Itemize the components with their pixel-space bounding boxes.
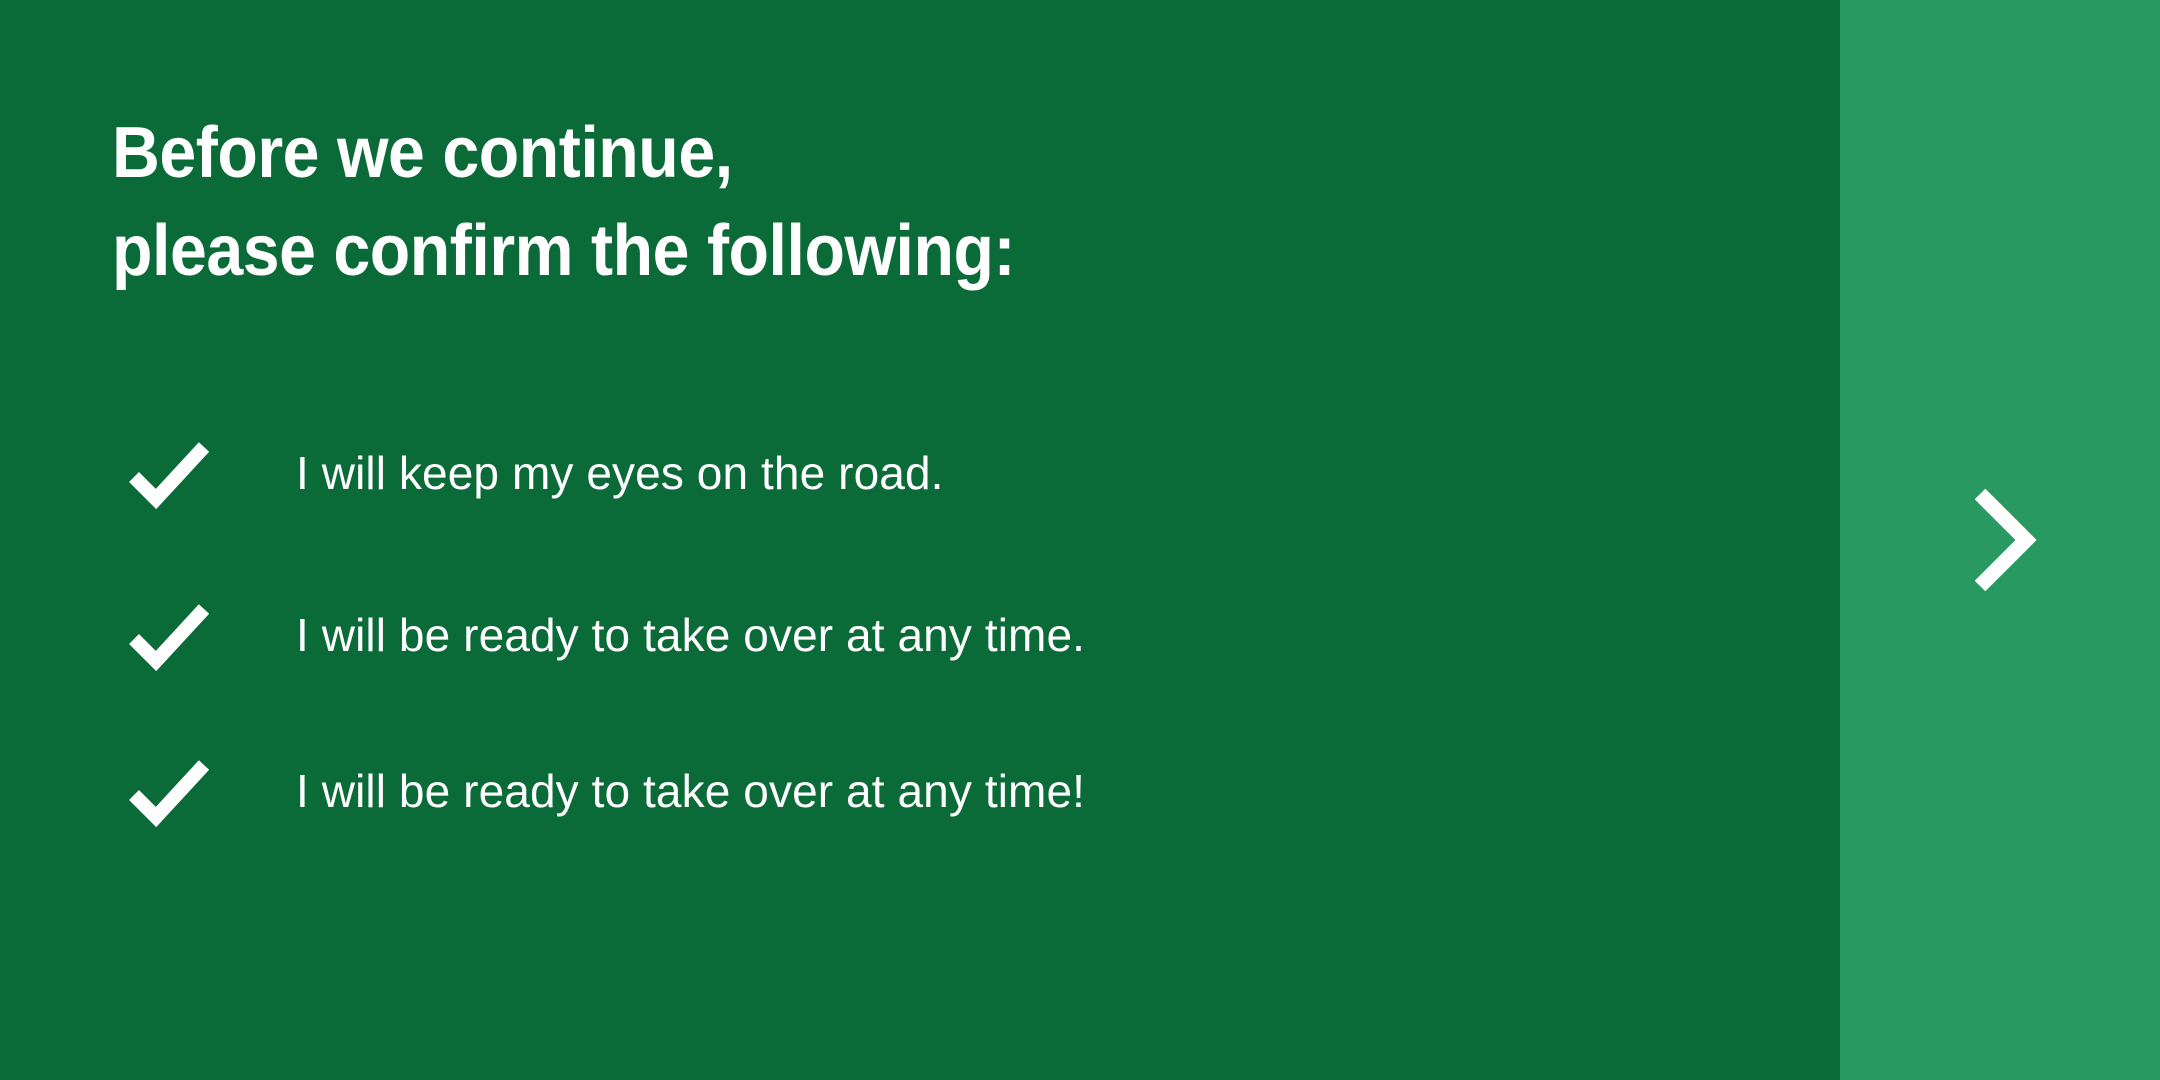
driver-confirmation-screen: Before we continue, please confirm the f… <box>0 0 2160 1080</box>
check-icon <box>120 425 216 521</box>
page-title-line-1: Before we continue, <box>112 104 1584 202</box>
checklist-item-label: I will be ready to take over at any time… <box>296 607 1085 663</box>
chevron-right-icon <box>1940 480 2060 600</box>
check-icon <box>120 587 216 683</box>
checklist-item-label: I will keep my eyes on the road. <box>296 445 944 501</box>
page-title: Before we continue, please confirm the f… <box>112 104 1584 300</box>
checklist-item[interactable]: I will be ready to take over at any time… <box>112 554 1752 716</box>
next-button[interactable] <box>1840 0 2160 1080</box>
check-icon <box>120 743 216 839</box>
checklist-item[interactable]: I will keep my eyes on the road. <box>112 392 1752 554</box>
checklist-item[interactable]: I will be ready to take over at any time… <box>112 716 1752 866</box>
main-content-panel: Before we continue, please confirm the f… <box>0 0 1840 1080</box>
checklist-item-label: I will be ready to take over at any time… <box>296 763 1085 819</box>
page-title-line-2: please confirm the following: <box>112 202 1584 300</box>
confirmation-checklist: I will keep my eyes on the road. I will … <box>112 392 1752 866</box>
